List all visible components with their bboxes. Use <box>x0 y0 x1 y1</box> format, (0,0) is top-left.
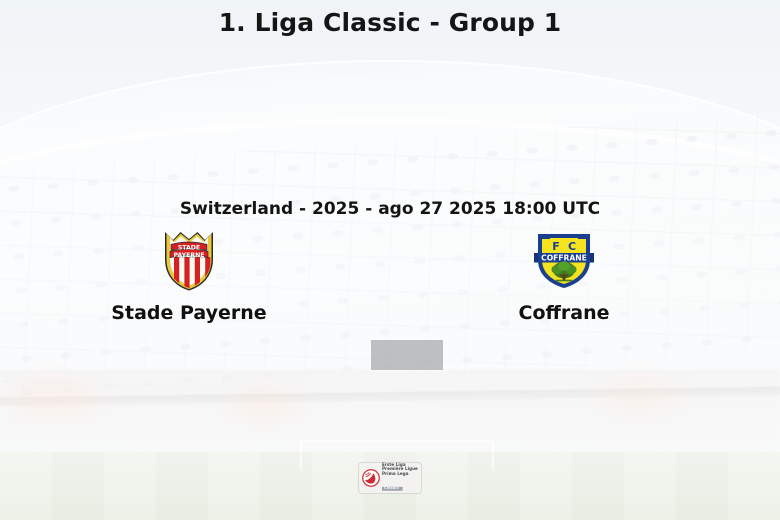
home-team[interactable]: STADE PAYERNE Stade Payerne <box>39 228 339 324</box>
page-title: 1. Liga Classic - Group 1 <box>0 8 780 37</box>
fc-coffrane-crest-icon: F C COFFRANE <box>530 230 598 290</box>
stade-payerne-crest-icon: STADE PAYERNE <box>161 229 217 291</box>
svg-text:PAYERNE: PAYERNE <box>173 252 204 259</box>
away-team-name: Coffrane <box>414 302 714 324</box>
league-tier: Classic <box>382 487 403 492</box>
svg-text:COFFRANE: COFFRANE <box>541 253 587 262</box>
match-preview-card: 1. Liga Classic - Group 1 Switzerland - … <box>0 0 780 520</box>
home-team-name: Stade Payerne <box>39 302 339 324</box>
svg-text:F: F <box>552 240 560 253</box>
home-team-crest: STADE PAYERNE <box>39 228 339 292</box>
svg-text:C: C <box>568 240 576 253</box>
away-team[interactable]: F C COFFRANE <box>414 228 714 324</box>
league-name-it: Prima Lega <box>382 472 418 476</box>
league-badge: Erste Liga Première Ligue Prima Lega Cla… <box>358 462 422 494</box>
svg-text:STADE: STADE <box>178 245 200 252</box>
match-subtitle: Switzerland - 2025 - ago 27 2025 18:00 U… <box>0 199 780 219</box>
erste-liga-logo-icon <box>362 469 380 487</box>
away-team-crest: F C COFFRANE <box>414 228 714 292</box>
